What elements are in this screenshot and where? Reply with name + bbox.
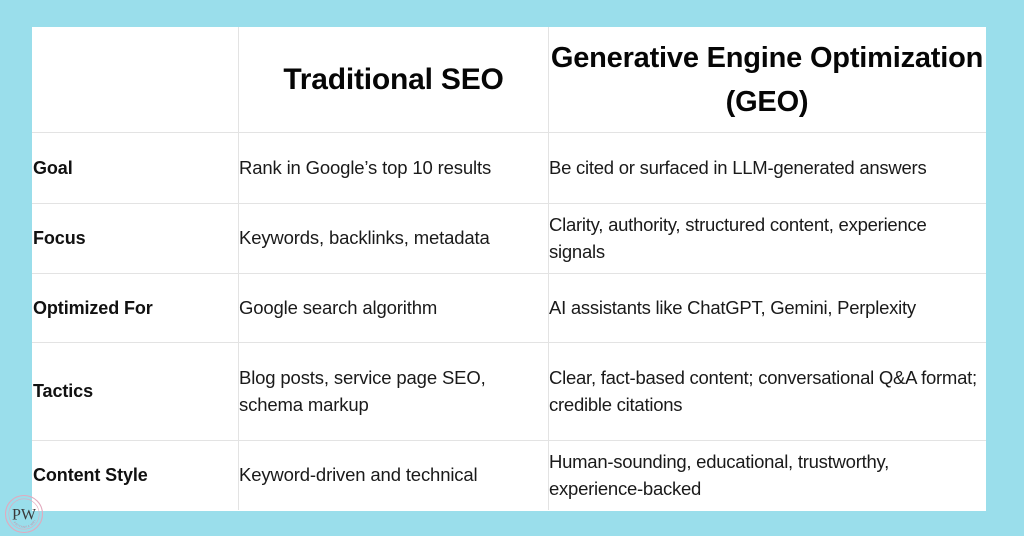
row-label-focus: Focus (33, 226, 238, 250)
cell-focus-geo: Clarity, authority, structured content, … (549, 204, 986, 274)
row-label-cell-focus: Focus (33, 204, 239, 274)
cell-text-focus-traditional-seo: Keywords, backlinks, metadata (239, 225, 548, 251)
comparison-table-card: Traditional SEO Generative Engine Optimi… (32, 27, 985, 510)
row-label-goal: Goal (33, 156, 238, 180)
cell-text-focus-geo: Clarity, authority, structured content, … (549, 212, 985, 265)
brand-logo: PW PRIYANKA WRITES STUDIO (2, 492, 46, 536)
table-row: Content Style Keyword-driven and technic… (33, 441, 986, 511)
cell-content-style-geo: Human-sounding, educational, trustworthy… (549, 441, 986, 511)
header-cell-traditional-seo: Traditional SEO (239, 28, 549, 133)
cell-optimized-for-geo: AI assistants like ChatGPT, Gemini, Perp… (549, 274, 986, 343)
circular-pw-monogram-icon: PW PRIYANKA WRITES STUDIO (2, 492, 46, 536)
cell-tactics-traditional-seo: Blog posts, service page SEO, schema mar… (239, 343, 549, 441)
header-cell-geo: Generative Engine Optimization (GEO) (549, 28, 986, 133)
table-row: Optimized For Google search algorithm AI… (33, 274, 986, 343)
row-label-cell-content-style: Content Style (33, 441, 239, 511)
row-label-content-style: Content Style (33, 463, 238, 487)
header-cell-blank (33, 28, 239, 133)
cell-text-content-style-traditional-seo: Keyword-driven and technical (239, 462, 548, 488)
row-label-tactics: Tactics (33, 379, 238, 403)
row-label-cell-optimized-for: Optimized For (33, 274, 239, 343)
cell-text-optimized-for-geo: AI assistants like ChatGPT, Gemini, Perp… (549, 295, 985, 321)
cell-text-goal-geo: Be cited or surfaced in LLM-generated an… (549, 155, 985, 181)
table-row: Tactics Blog posts, service page SEO, sc… (33, 343, 986, 441)
cell-focus-traditional-seo: Keywords, backlinks, metadata (239, 204, 549, 274)
table-header-row: Traditional SEO Generative Engine Optimi… (33, 28, 986, 133)
header-label-geo: Generative Engine Optimization (GEO) (549, 36, 985, 124)
cell-text-goal-traditional-seo: Rank in Google’s top 10 results (239, 155, 548, 181)
cell-goal-traditional-seo: Rank in Google’s top 10 results (239, 133, 549, 204)
cell-content-style-traditional-seo: Keyword-driven and technical (239, 441, 549, 511)
table-row: Focus Keywords, backlinks, metadata Clar… (33, 204, 986, 274)
cell-text-content-style-geo: Human-sounding, educational, trustworthy… (549, 449, 985, 502)
row-label-cell-goal: Goal (33, 133, 239, 204)
cell-optimized-for-traditional-seo: Google search algorithm (239, 274, 549, 343)
cell-tactics-geo: Clear, fact-based content; conversationa… (549, 343, 986, 441)
cell-text-optimized-for-traditional-seo: Google search algorithm (239, 295, 548, 321)
cell-text-tactics-traditional-seo: Blog posts, service page SEO, schema mar… (239, 365, 548, 418)
row-label-cell-tactics: Tactics (33, 343, 239, 441)
cell-text-tactics-geo: Clear, fact-based content; conversationa… (549, 365, 985, 418)
row-label-optimized-for: Optimized For (33, 296, 238, 320)
seo-vs-geo-comparison-table: Traditional SEO Generative Engine Optimi… (32, 27, 986, 511)
header-label-traditional-seo: Traditional SEO (239, 57, 548, 103)
table-row: Goal Rank in Google’s top 10 results Be … (33, 133, 986, 204)
cell-goal-geo: Be cited or surfaced in LLM-generated an… (549, 133, 986, 204)
